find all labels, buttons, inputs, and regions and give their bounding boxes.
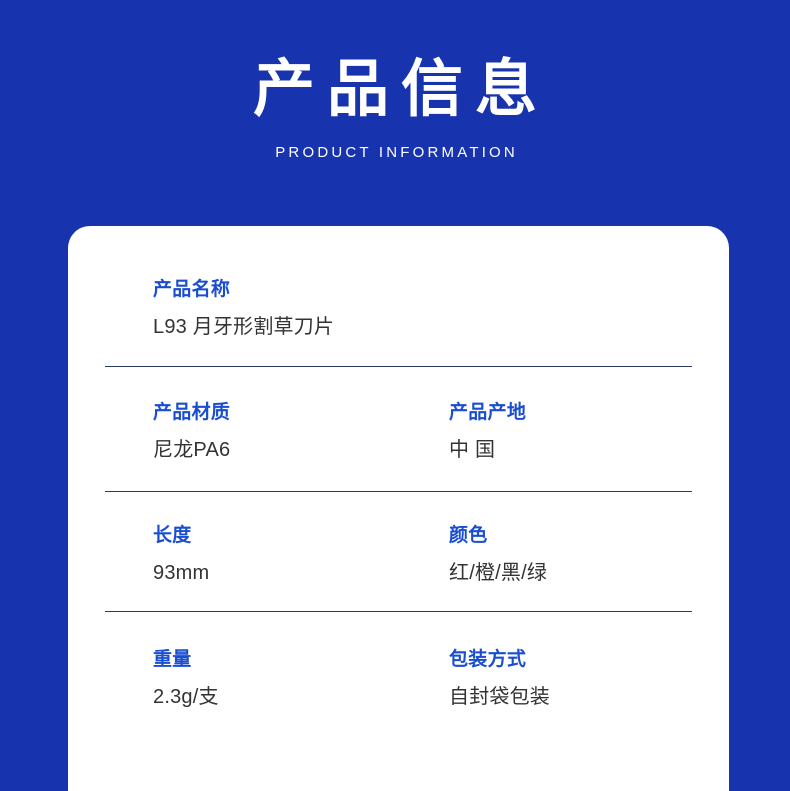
product-information-page: 产品信息 PRODUCT INFORMATION 产品名称 L93 月牙形割草刀…: [0, 0, 790, 791]
spec-value: 自封袋包装: [449, 684, 692, 710]
spec-cell-product-name: 产品名称 L93 月牙形割草刀片: [105, 278, 692, 340]
spec-label: 产品材质: [153, 401, 449, 425]
table-row: 产品材质 尼龙PA6 产品产地 中 国: [105, 367, 692, 491]
spec-value: 红/橙/黑/绿: [449, 560, 692, 586]
spec-value: 尼龙PA6: [153, 437, 449, 463]
spec-label: 长度: [153, 524, 449, 548]
spec-label: 颜色: [449, 524, 692, 548]
spec-cell-length: 长度 93mm: [105, 524, 449, 586]
spec-value: 2.3g/支: [153, 684, 449, 710]
spec-cell-material: 产品材质 尼龙PA6: [105, 401, 449, 463]
spec-value: 93mm: [153, 560, 449, 586]
table-row: 产品名称 L93 月牙形割草刀片: [105, 226, 692, 366]
product-spec-card: 产品名称 L93 月牙形割草刀片 产品材质 尼龙PA6 产品产地 中 国: [68, 226, 729, 791]
page-subtitle: PRODUCT INFORMATION: [0, 128, 790, 162]
spec-label: 包装方式: [449, 648, 692, 672]
spec-label: 重量: [153, 648, 449, 672]
spec-cell-origin: 产品产地 中 国: [449, 401, 692, 463]
page-title: 产品信息: [0, 0, 790, 128]
spec-cell-packaging: 包装方式 自封袋包装: [449, 648, 692, 710]
spec-label: 产品名称: [153, 278, 692, 302]
spec-value: L93 月牙形割草刀片: [153, 314, 692, 340]
spec-table: 产品名称 L93 月牙形割草刀片 产品材质 尼龙PA6 产品产地 中 国: [105, 226, 692, 735]
spec-cell-color: 颜色 红/橙/黑/绿: [449, 524, 692, 586]
spec-value: 中 国: [449, 437, 692, 463]
table-row: 长度 93mm 颜色 红/橙/黑/绿: [105, 492, 692, 611]
page-header: 产品信息 PRODUCT INFORMATION: [0, 0, 790, 162]
spec-cell-weight: 重量 2.3g/支: [105, 648, 449, 710]
table-row: 重量 2.3g/支 包装方式 自封袋包装: [105, 612, 692, 735]
spec-label: 产品产地: [449, 401, 692, 425]
